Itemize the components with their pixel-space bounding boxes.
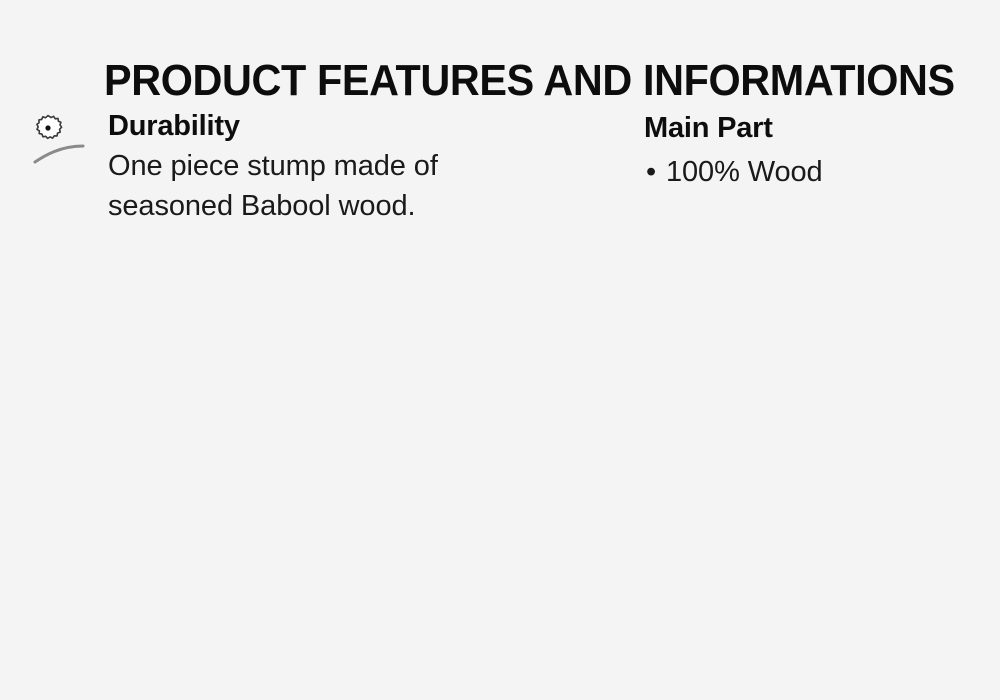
list-item: • 100% Wood (666, 152, 974, 192)
main-part-heading: Main Part (644, 110, 974, 146)
feature-column-main-part: Main Part • 100% Wood (644, 110, 974, 192)
bullet-icon: • (646, 152, 656, 192)
feature-column-durability: Durability One piece stump made of seaso… (108, 108, 568, 226)
page-title: PRODUCT FEATURES AND INFORMATIONS (104, 56, 856, 106)
product-features-page: PRODUCT FEATURES AND INFORMATIONS Durabi… (0, 0, 1000, 700)
list-item-label: 100% Wood (666, 156, 823, 188)
saw-blade-icon (24, 104, 96, 174)
main-part-list: • 100% Wood (644, 152, 974, 192)
durability-heading: Durability (108, 108, 568, 144)
durability-description: One piece stump made of seasoned Babool … (108, 146, 568, 226)
